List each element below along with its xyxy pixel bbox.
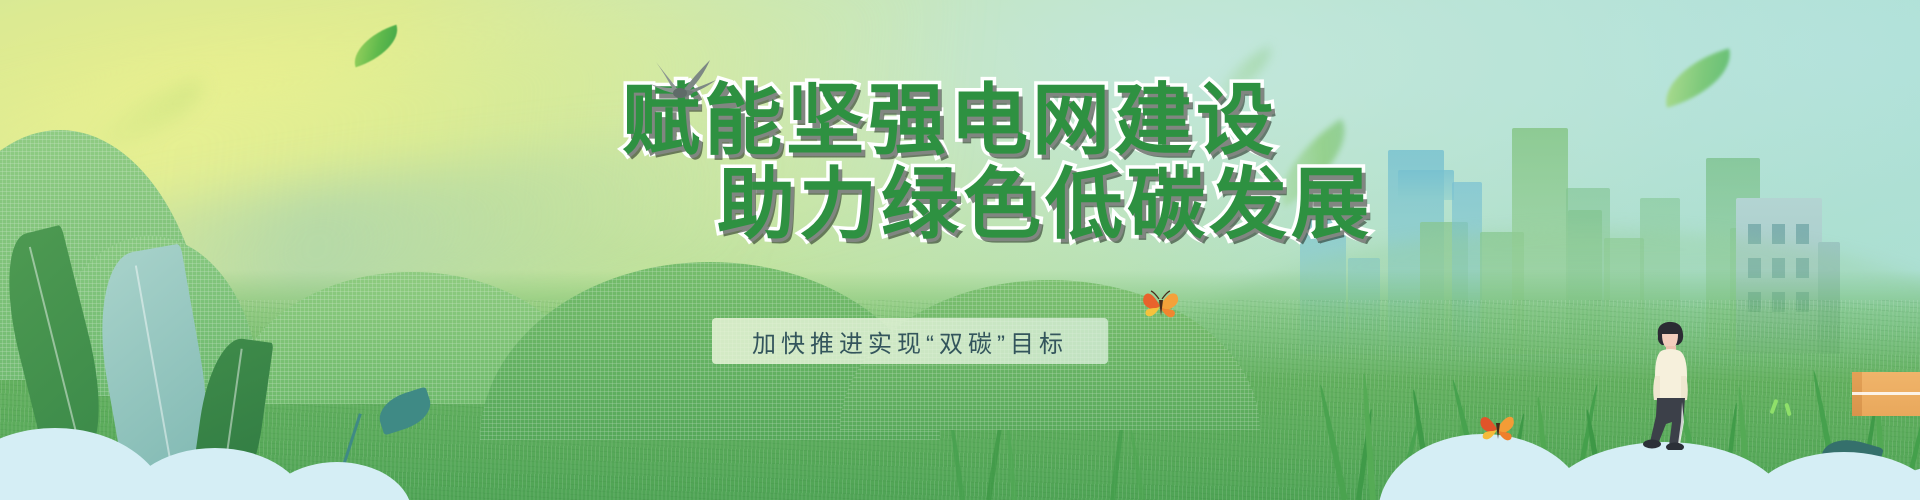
person-arm-right — [1681, 376, 1688, 400]
cloud-puff-shape — [262, 462, 412, 500]
butterfly-icon — [1140, 286, 1182, 324]
orange-roof-structure — [1852, 372, 1920, 416]
person-shoe-left — [1643, 440, 1661, 449]
walking-person-figure — [1642, 318, 1698, 450]
subtitle-box: 加快推进实现“双碳”目标 — [712, 318, 1108, 364]
subtitle-text: 加快推进实现“双碳”目标 — [752, 324, 1068, 359]
swallow-bird-icon — [640, 58, 724, 110]
roof-ridge-line — [1852, 392, 1920, 395]
cloud-row — [0, 364, 1920, 500]
butterfly-icon — [1478, 410, 1518, 446]
person-arm-left — [1653, 376, 1660, 400]
title-line-1: 赋能坚强电网建设 — [0, 78, 1920, 162]
title-line-2: 助力绿色低碳发展 — [170, 162, 1920, 246]
person-shoe-right — [1666, 443, 1684, 451]
banner-title: 赋能坚强电网建设 助力绿色低碳发展 — [0, 78, 1920, 246]
eco-power-grid-banner: 赋能坚强电网建设 助力绿色低碳发展 加快推进实现“双碳”目标 — [0, 0, 1920, 500]
